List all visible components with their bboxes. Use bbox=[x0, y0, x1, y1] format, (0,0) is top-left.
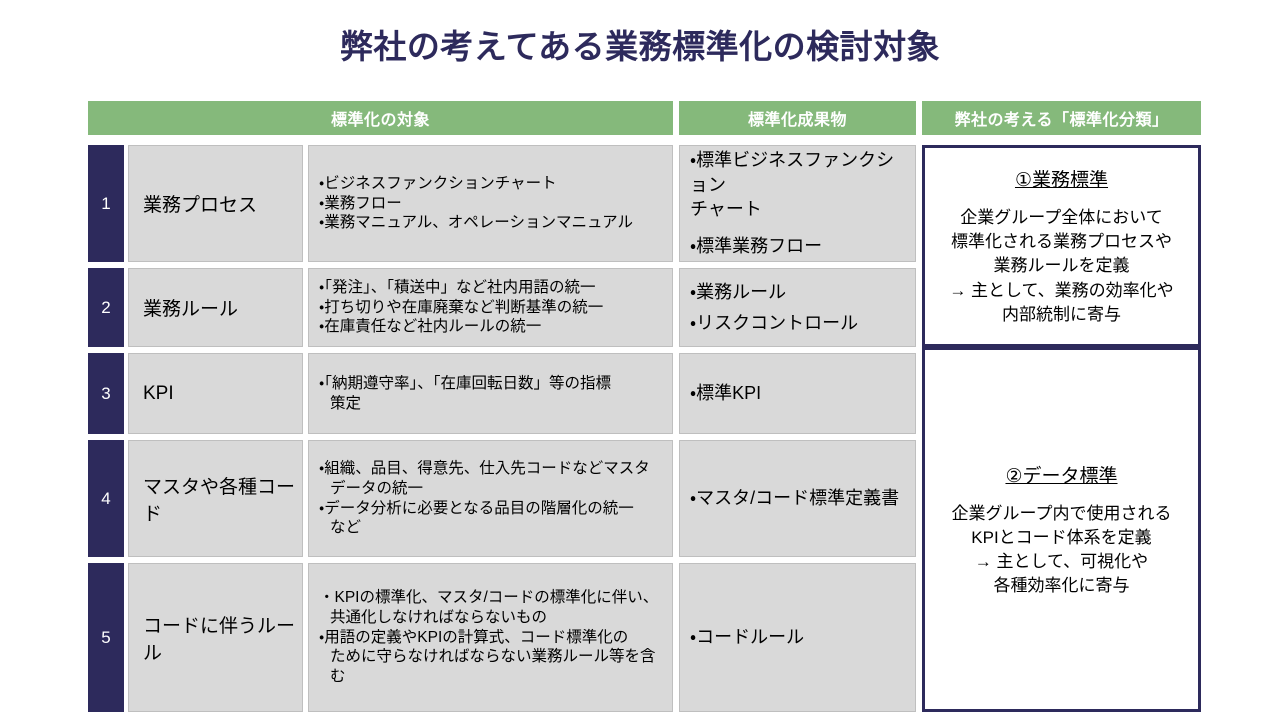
item-line: ・業務フロー bbox=[319, 194, 664, 214]
page-title: 弊社の考えてある業務標準化の検討対象 bbox=[0, 20, 1280, 68]
row-name-5: コードに伴うルール bbox=[128, 563, 303, 712]
row-items-3: ・「納期遵守率」、「在庫回転日数」等の指標 策定 bbox=[308, 353, 673, 434]
item-line: ・打ち切りや在庫廃棄など判断基準の統一 bbox=[319, 298, 664, 318]
row-outputs-3: ・標準KPI bbox=[679, 353, 916, 434]
output-line: ・標準KPI bbox=[690, 381, 909, 405]
output-line: ・マスタ/コード標準定義書 bbox=[690, 486, 909, 510]
row-name-1: 業務プロセス bbox=[128, 145, 303, 262]
classification-block-data-standard: ②データ標準 企業グループ内で使用される KPIとコード体系を定義 → 主として… bbox=[922, 347, 1201, 712]
row-outputs-5: ・コードルール bbox=[679, 563, 916, 712]
classification-block-business-standard: ①業務標準 企業グループ全体において 標準化される業務プロセスや 業務ルールを定… bbox=[922, 145, 1201, 347]
item-line: ・ビジネスファンクションチャート bbox=[319, 174, 664, 194]
item-line: 共通化しなければならないもの bbox=[319, 608, 664, 628]
item-line: ・業務マニュアル、オペレーションマニュアル bbox=[319, 213, 664, 233]
row-name-2: 業務ルール bbox=[128, 268, 303, 347]
row-items-5: ・KPIの標準化、マスタ/コードの標準化に伴い、 共通化しなければならないもの … bbox=[308, 563, 673, 712]
row-outputs-4: ・マスタ/コード標準定義書 bbox=[679, 440, 916, 557]
classification-body: 企業グループ全体において 標準化される業務プロセスや 業務ルールを定義 → 主と… bbox=[949, 206, 1173, 327]
column-header-standardization-target: 標準化の対象 bbox=[88, 101, 673, 135]
classification-body-line: KPIとコード体系を定義 bbox=[952, 526, 1172, 550]
item-line: 策定 bbox=[319, 394, 664, 414]
row-index-5: 5 bbox=[88, 563, 124, 712]
row-name-3: KPI bbox=[128, 353, 303, 434]
classification-body-line: → 主として、業務の効率化や bbox=[949, 279, 1173, 303]
item-line: ・KPIの標準化、マスタ/コードの標準化に伴い、 bbox=[319, 588, 664, 608]
classification-title: ①業務標準 bbox=[1015, 165, 1108, 192]
item-line: ・組織、品目、得意先、仕入先コードなどマスタ bbox=[319, 459, 664, 479]
row-index-3: 3 bbox=[88, 353, 124, 434]
item-line: む bbox=[319, 667, 664, 687]
row-outputs-2: ・業務ルール ・リスクコントロール bbox=[679, 268, 916, 347]
row-index-1: 1 bbox=[88, 145, 124, 262]
item-line: データの統一 bbox=[319, 479, 664, 499]
classification-body-line: 内部統制に寄与 bbox=[949, 303, 1173, 327]
output-line: ・リスクコントロール bbox=[690, 311, 909, 335]
classification-body: 企業グループ内で使用される KPIとコード体系を定義 → 主として、可視化や 各… bbox=[952, 502, 1172, 599]
row-items-2: ・「発注」、「積送中」など社内用語の統一 ・打ち切りや在庫廃棄など判断基準の統一… bbox=[308, 268, 673, 347]
classification-body-line: 企業グループ全体において bbox=[949, 206, 1173, 230]
row-index-4: 4 bbox=[88, 440, 124, 557]
classification-title: ②データ標準 bbox=[1005, 461, 1117, 488]
row-outputs-1: ・標準ビジネスファンクション チャート ・標準業務フロー bbox=[679, 145, 916, 262]
row-items-4: ・組織、品目、得意先、仕入先コードなどマスタ データの統一 ・データ分析に必要と… bbox=[308, 440, 673, 557]
item-line: ・「納期遵守率」、「在庫回転日数」等の指標 bbox=[319, 374, 664, 394]
item-line: ・データ分析に必要となる品目の階層化の統一 bbox=[319, 499, 664, 519]
item-line: ために守らなければならない業務ルール等を含 bbox=[319, 647, 664, 667]
slide-canvas: 弊社の考えてある業務標準化の検討対象 標準化の対象 標準化成果物 弊社の考える「… bbox=[0, 0, 1280, 720]
row-items-1: ・ビジネスファンクションチャート ・業務フロー ・業務マニュアル、オペレーション… bbox=[308, 145, 673, 262]
classification-body-line: 業務ルールを定義 bbox=[949, 254, 1173, 278]
output-line: ・標準業務フロー bbox=[690, 234, 909, 258]
item-line: など bbox=[319, 518, 664, 538]
classification-body-line: 各種効率化に寄与 bbox=[952, 574, 1172, 598]
column-header-standardization-classification: 弊社の考える「標準化分類」 bbox=[922, 101, 1201, 135]
output-line: ・コードルール bbox=[690, 625, 909, 649]
classification-body-line: 企業グループ内で使用される bbox=[952, 502, 1172, 526]
output-line: チャート bbox=[690, 197, 909, 221]
classification-body-line: 標準化される業務プロセスや bbox=[949, 230, 1173, 254]
item-line: ・在庫責任など社内ルールの統一 bbox=[319, 317, 664, 337]
item-line: ・「発注」、「積送中」など社内用語の統一 bbox=[319, 278, 664, 298]
classification-body-line: → 主として、可視化や bbox=[952, 550, 1172, 574]
row-index-2: 2 bbox=[88, 268, 124, 347]
row-name-4: マスタや各種コード bbox=[128, 440, 303, 557]
column-header-standardization-output: 標準化成果物 bbox=[679, 101, 916, 135]
output-line: ・標準ビジネスファンクション bbox=[690, 148, 909, 197]
output-line: ・業務ルール bbox=[690, 280, 909, 304]
item-line: ・用語の定義やKPIの計算式、コード標準化の bbox=[319, 628, 664, 648]
